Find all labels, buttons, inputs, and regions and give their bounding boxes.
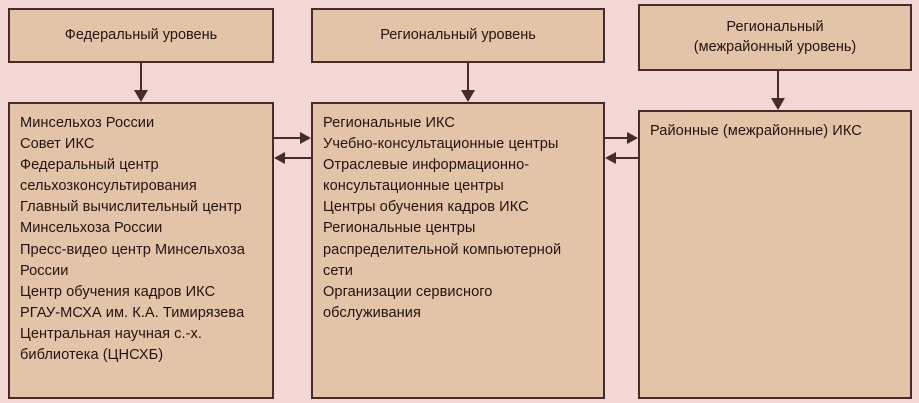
list-item: Региональные ИКС	[323, 113, 603, 134]
list-item: Организации сервисного	[323, 282, 603, 303]
district-to-regional-shaft	[613, 157, 638, 159]
federal-arrow-shaft	[140, 63, 142, 92]
regional-arrow-head	[461, 90, 475, 102]
list-item: обслуживания	[323, 303, 603, 324]
list-item: Учебно-консультационные центры	[323, 134, 603, 155]
list-item: библиотека (ЦНСХБ)	[20, 345, 272, 366]
list-item: Минсельхоза России	[20, 218, 272, 239]
organization-structure-diagram: Федеральный уровень Региональный уровень…	[0, 0, 919, 403]
list-item: сети	[323, 261, 603, 282]
federal-level-header-label: Федеральный уровень	[59, 26, 223, 46]
list-item: Региональные центры	[323, 218, 603, 239]
list-item: сельхозконсультирования	[20, 176, 272, 197]
list-item: Центральная научная с.-х.	[20, 324, 272, 345]
list-item: Районные (межрайонные) ИКС	[650, 121, 910, 142]
list-item: Пресс-видео центр Минсельхоза	[20, 240, 272, 261]
list-item: Главный вычислительный центр	[20, 197, 272, 218]
list-item: Совет ИКС	[20, 134, 272, 155]
list-item: Минсельхоз России	[20, 113, 272, 134]
interdistrict-arrow-shaft	[777, 71, 779, 100]
regional-level-body-box: Региональные ИКС Учебно-консультационные…	[311, 102, 605, 399]
regional-arrow-shaft	[467, 63, 469, 92]
federal-to-regional-shaft	[274, 137, 303, 139]
list-item: России	[20, 261, 272, 282]
interdistrict-level-header-label: Региональный (межрайонный уровень)	[688, 18, 862, 57]
regional-to-federal-head	[274, 152, 285, 164]
interdistrict-level-header-box: Региональный (межрайонный уровень)	[638, 4, 912, 71]
list-item: распределительной компьютерной	[323, 240, 603, 261]
regional-to-federal-shaft	[282, 157, 311, 159]
federal-to-regional-head	[300, 132, 311, 144]
list-item: РГАУ-МСХА им. К.А. Тимирязева	[20, 303, 272, 324]
regional-level-header-label: Региональный уровень	[374, 26, 542, 46]
federal-arrow-head	[134, 90, 148, 102]
list-item: Федеральный центр	[20, 155, 272, 176]
district-to-regional-head	[605, 152, 616, 164]
federal-level-body-box: Минсельхоз России Совет ИКС Федеральный …	[8, 102, 274, 399]
list-item: Центры обучения кадров ИКС	[323, 197, 603, 218]
district-level-body-box: Районные (межрайонные) ИКС	[638, 110, 912, 399]
list-item: Центр обучения кадров ИКС	[20, 282, 272, 303]
interdistrict-arrow-head	[771, 98, 785, 110]
federal-level-header-box: Федеральный уровень	[8, 8, 274, 63]
list-item: консультационные центры	[323, 176, 603, 197]
list-item: Отраслевые информационно-	[323, 155, 603, 176]
regional-to-district-head	[627, 132, 638, 144]
regional-level-header-box: Региональный уровень	[311, 8, 605, 63]
